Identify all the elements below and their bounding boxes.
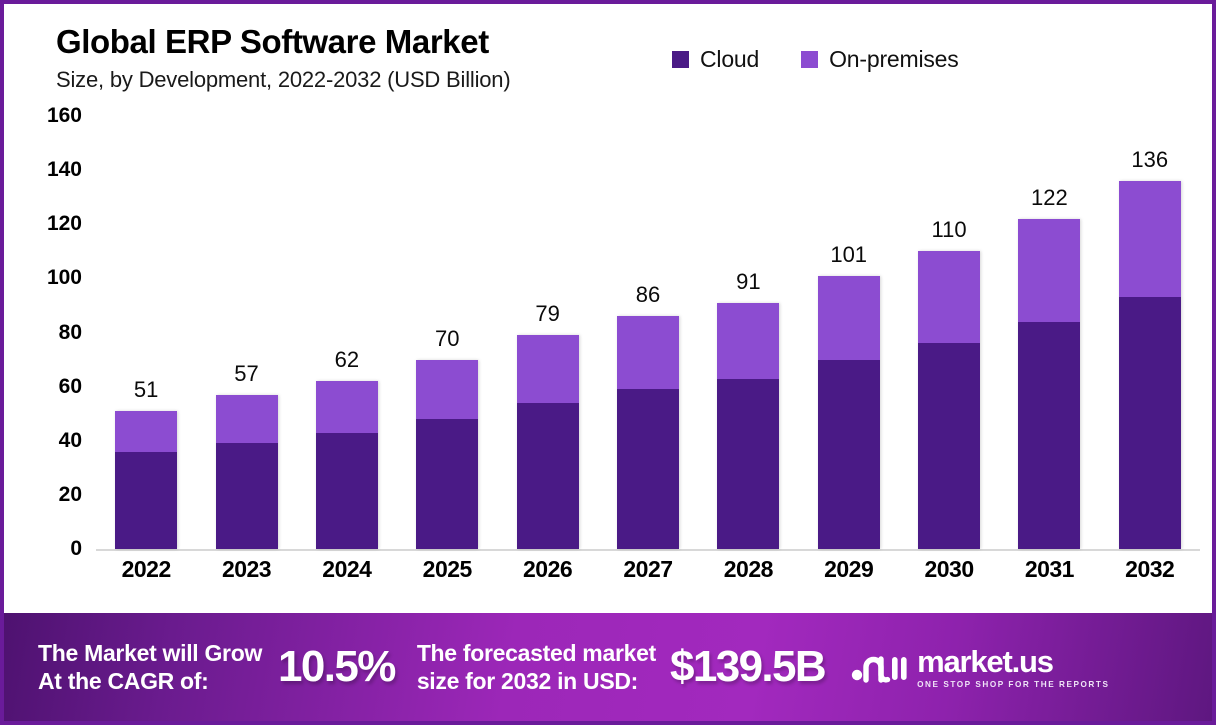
x-axis-tick-2022: 2022 — [98, 556, 194, 583]
forecast-caption-line-2: size for 2032 in USD: — [417, 667, 656, 695]
bar-value-label: 57 — [234, 361, 258, 387]
forecast-block: The forecasted market size for 2032 in U… — [417, 639, 825, 695]
logo-tagline: ONE STOP SHOP FOR THE REPORTS — [917, 680, 1109, 689]
x-axis-tick-2023: 2023 — [199, 556, 295, 583]
square-swatch-icon — [672, 51, 689, 68]
bar-value-label: 70 — [435, 326, 459, 352]
bar-value-label: 79 — [535, 301, 559, 327]
bar-segment-on-premises[interactable] — [416, 360, 478, 420]
x-axis-tick-2025: 2025 — [399, 556, 495, 583]
bar-segment-cloud[interactable] — [617, 389, 679, 549]
chart-subtitle: Size, by Development, 2022-2032 (USD Bil… — [56, 67, 510, 93]
bar-segment-on-premises[interactable] — [617, 316, 679, 389]
legend-item-cloud[interactable]: Cloud — [672, 46, 759, 73]
stacked-bar[interactable] — [1119, 181, 1181, 549]
bar-segment-on-premises[interactable] — [216, 395, 278, 444]
bar-group-2027[interactable]: 86 — [600, 116, 696, 549]
bar-segment-cloud[interactable] — [1018, 322, 1080, 549]
bar-group-2028[interactable]: 91 — [700, 116, 796, 549]
forecast-caption: The forecasted market size for 2032 in U… — [417, 639, 656, 695]
y-axis-tick: 80 — [59, 321, 82, 345]
stacked-bar[interactable] — [216, 395, 278, 549]
bar-value-label: 62 — [335, 347, 359, 373]
bar-segment-cloud[interactable] — [416, 419, 478, 549]
bar-segment-on-premises[interactable] — [517, 335, 579, 403]
cagr-block: The Market will Grow At the CAGR of: 10.… — [38, 639, 395, 695]
stacked-bar[interactable] — [416, 360, 478, 549]
page-title: Global ERP Software Market — [56, 24, 510, 61]
y-axis-tick: 0 — [70, 537, 82, 561]
bar-value-label: 86 — [636, 282, 660, 308]
x-axis-tick-2031: 2031 — [1001, 556, 1097, 583]
infographic-frame: Global ERP Software Market Size, by Deve… — [0, 0, 1216, 725]
bar-segment-on-premises[interactable] — [1119, 181, 1181, 297]
bar-group-2024[interactable]: 62 — [299, 116, 395, 549]
chart-header: Global ERP Software Market Size, by Deve… — [4, 4, 1212, 116]
stacked-bar[interactable] — [818, 276, 880, 549]
bar-group-2025[interactable]: 70 — [399, 116, 495, 549]
bar-segment-cloud[interactable] — [316, 433, 378, 549]
bar-segment-on-premises[interactable] — [717, 303, 779, 379]
bar-segment-cloud[interactable] — [517, 403, 579, 549]
bar-group-2032[interactable]: 136 — [1102, 116, 1198, 549]
bar-value-label: 110 — [932, 217, 967, 243]
bar-value-label: 51 — [134, 377, 158, 403]
bar-group-2022[interactable]: 51 — [98, 116, 194, 549]
brand-logo[interactable]: market.us ONE STOP SHOP FOR THE REPORTS — [851, 645, 1109, 690]
legend-item-on-premises[interactable]: On-premises — [801, 46, 958, 73]
stacked-bar[interactable] — [717, 303, 779, 549]
stacked-bar[interactable] — [918, 251, 980, 549]
bar-segment-on-premises[interactable] — [316, 381, 378, 432]
forecast-caption-line-1: The forecasted market — [417, 639, 656, 667]
x-axis-tick-2027: 2027 — [600, 556, 696, 583]
bar-segment-cloud[interactable] — [918, 343, 980, 549]
cagr-caption-line-1: The Market will Grow — [38, 639, 262, 667]
x-axis-tick-2024: 2024 — [299, 556, 395, 583]
x-axis-tick-2028: 2028 — [700, 556, 796, 583]
stacked-bar[interactable] — [115, 411, 177, 549]
legend-label-on-premises: On-premises — [829, 46, 958, 73]
x-axis-tick-2030: 2030 — [901, 556, 997, 583]
stats-banner: The Market will Grow At the CAGR of: 10.… — [4, 613, 1212, 721]
bar-segment-on-premises[interactable] — [818, 276, 880, 360]
bar-value-label: 122 — [1031, 185, 1068, 211]
logo-wordmark: market.us ONE STOP SHOP FOR THE REPORTS — [917, 646, 1109, 689]
y-axis-tick: 140 — [47, 158, 82, 182]
cagr-caption: The Market will Grow At the CAGR of: — [38, 639, 262, 695]
y-axis-tick: 20 — [59, 483, 82, 507]
y-axis-tick: 40 — [59, 429, 82, 453]
bar-segment-cloud[interactable] — [717, 379, 779, 549]
x-axis-tick-2029: 2029 — [801, 556, 897, 583]
y-axis-tick: 60 — [59, 375, 82, 399]
chart-plot-area: 020406080100120140160 515762707986911011… — [4, 116, 1212, 601]
bar-segment-cloud[interactable] — [1119, 297, 1181, 549]
title-block: Global ERP Software Market Size, by Deve… — [56, 24, 510, 93]
bar-segment-on-premises[interactable] — [115, 411, 177, 452]
bar-segment-on-premises[interactable] — [1018, 219, 1080, 322]
y-axis: 020406080100120140160 — [4, 116, 92, 556]
bar-value-label: 101 — [830, 242, 867, 268]
x-axis-baseline — [96, 549, 1200, 551]
x-axis-tick-2026: 2026 — [500, 556, 596, 583]
stacked-bar[interactable] — [316, 381, 378, 549]
cagr-value: 10.5% — [278, 642, 395, 692]
cagr-caption-line-2: At the CAGR of: — [38, 667, 262, 695]
bar-value-label: 136 — [1131, 147, 1168, 173]
bar-group-2023[interactable]: 57 — [199, 116, 295, 549]
legend-label-cloud: Cloud — [700, 46, 759, 73]
bar-series-container: 51576270798691101110122136 — [96, 116, 1200, 549]
y-axis-tick: 160 — [47, 104, 82, 128]
square-swatch-icon — [801, 51, 818, 68]
bar-segment-on-premises[interactable] — [918, 251, 980, 343]
stacked-bar[interactable] — [517, 335, 579, 549]
bar-group-2029[interactable]: 101 — [801, 116, 897, 549]
market-us-logo-icon — [851, 645, 907, 690]
x-axis-tick-2032: 2032 — [1102, 556, 1198, 583]
logo-name: market.us — [917, 646, 1109, 677]
bar-group-2026[interactable]: 79 — [500, 116, 596, 549]
x-axis: 2022202320242025202620272028202920302031… — [96, 556, 1200, 596]
y-axis-tick: 120 — [47, 212, 82, 236]
bar-value-label: 91 — [736, 269, 760, 295]
y-axis-tick: 100 — [47, 266, 82, 290]
stacked-bar[interactable] — [1018, 219, 1080, 549]
bar-group-2030[interactable]: 110 — [901, 116, 997, 549]
bar-group-2031[interactable]: 122 — [1001, 116, 1097, 549]
forecast-value: $139.5B — [670, 642, 825, 692]
bar-segment-cloud[interactable] — [818, 360, 880, 549]
chart-legend: Cloud On-premises — [672, 46, 959, 73]
bar-segment-cloud[interactable] — [216, 443, 278, 549]
bar-segment-cloud[interactable] — [115, 452, 177, 549]
stacked-bar[interactable] — [617, 316, 679, 549]
